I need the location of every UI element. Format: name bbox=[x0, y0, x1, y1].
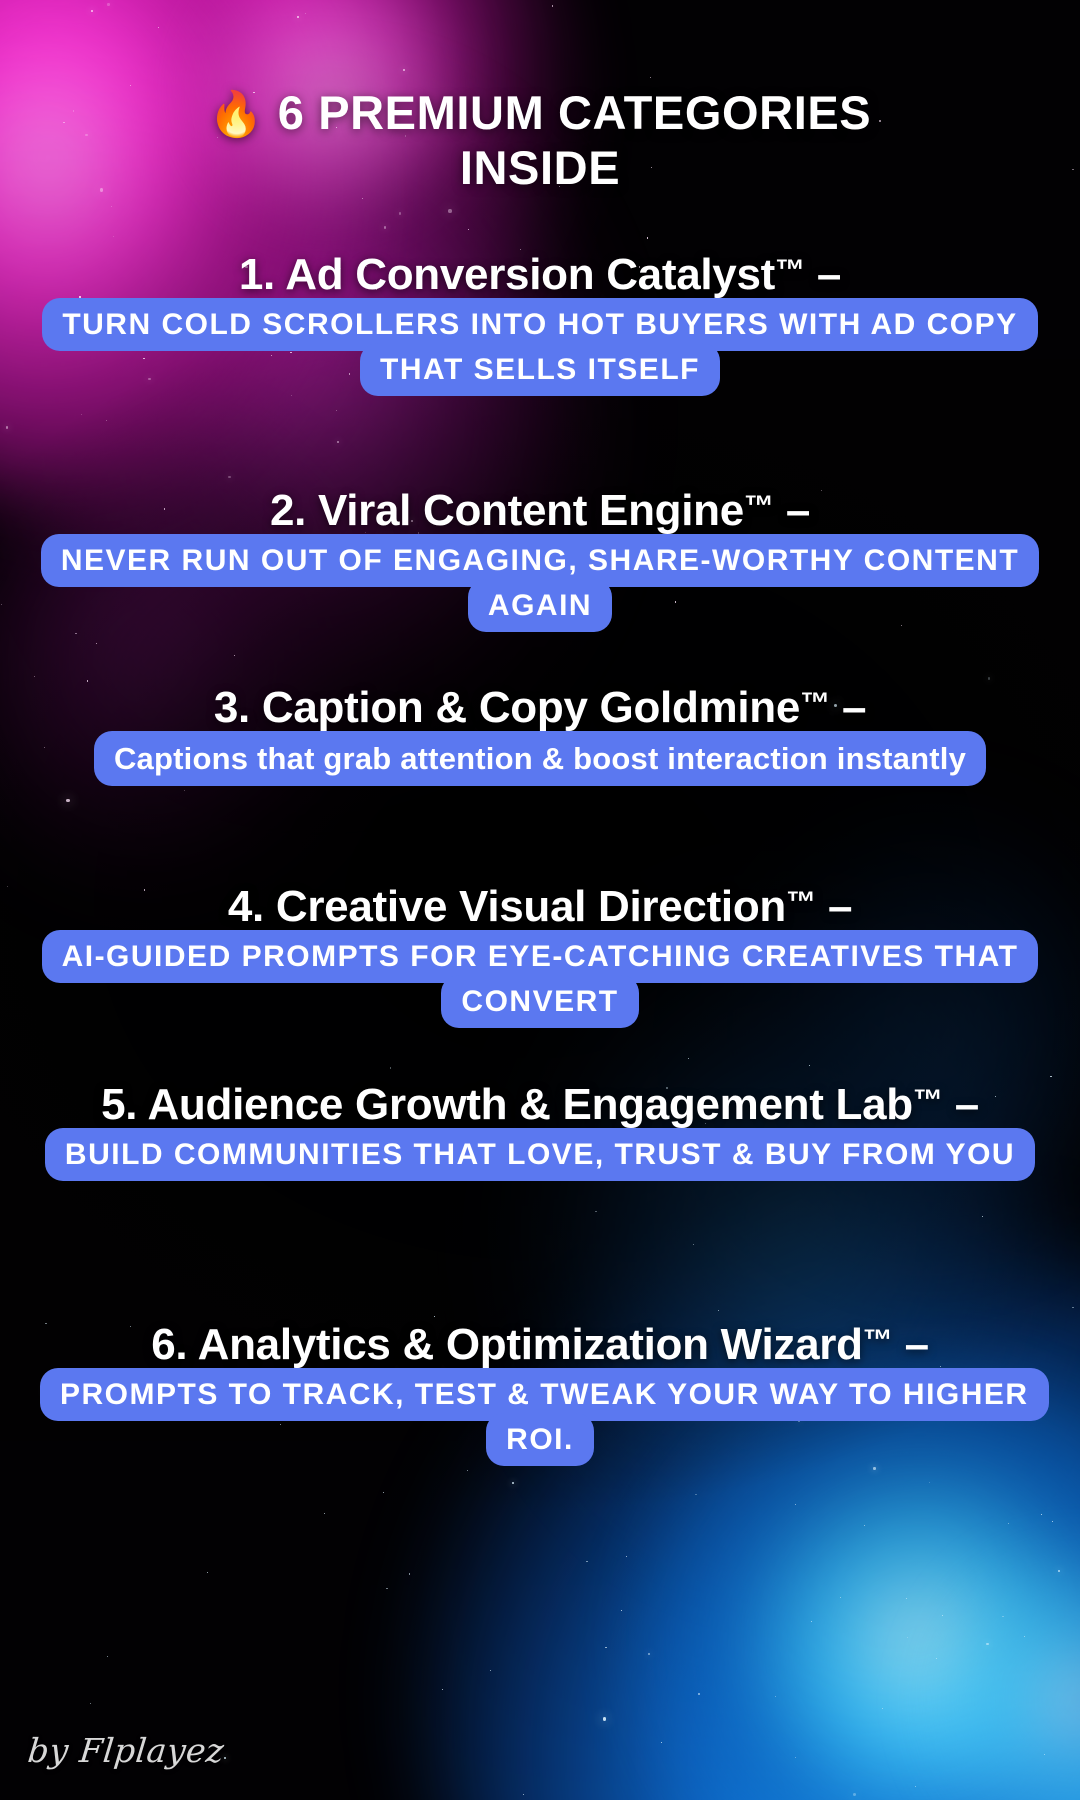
category-description: BUILD COMMUNITIES THAT LOVE, TRUST & BUY… bbox=[40, 1132, 1040, 1178]
category-description: PROMPTS TO TRACK, TEST & TWEAK YOUR WAY … bbox=[40, 1372, 1040, 1463]
author-signature: by Flplayez bbox=[26, 1731, 226, 1770]
category-title: 6. Analytics & Optimization Wizard™ – bbox=[40, 1322, 1040, 1368]
category-item: 3. Caption & Copy Goldmine™ – Captions t… bbox=[0, 685, 1080, 782]
category-title: 1. Ad Conversion Catalyst™ – bbox=[40, 252, 1040, 298]
category-description-highlight: TURN COLD SCROLLERS INTO HOT BUYERS WITH… bbox=[42, 298, 1037, 397]
category-title: 4. Creative Visual Direction™ – bbox=[40, 884, 1040, 930]
category-description-highlight: Captions that grab attention & boost int… bbox=[94, 731, 986, 786]
category-description: NEVER RUN OUT OF ENGAGING, SHARE-WORTHY … bbox=[40, 538, 1040, 629]
category-title: 2. Viral Content Engine™ – bbox=[40, 488, 1040, 534]
category-item: 2. Viral Content Engine™ – NEVER RUN OUT… bbox=[0, 488, 1080, 629]
category-description: TURN COLD SCROLLERS INTO HOT BUYERS WITH… bbox=[40, 302, 1040, 393]
category-title: 3. Caption & Copy Goldmine™ – bbox=[40, 685, 1040, 731]
fire-icon: 🔥 bbox=[209, 90, 264, 139]
page-title: 🔥 6 PREMIUM CATEGORIES INSIDE bbox=[0, 86, 1080, 195]
category-description-highlight: NEVER RUN OUT OF ENGAGING, SHARE-WORTHY … bbox=[41, 534, 1039, 633]
category-description-highlight: BUILD COMMUNITIES THAT LOVE, TRUST & BUY… bbox=[45, 1128, 1035, 1181]
page-title-line1: 6 PREMIUM CATEGORIES bbox=[278, 86, 871, 139]
category-item: 5. Audience Growth & Engagement Lab™ – B… bbox=[0, 1082, 1080, 1177]
category-item: 4. Creative Visual Direction™ – AI-GUIDE… bbox=[0, 884, 1080, 1025]
category-description-highlight: AI-GUIDED PROMPTS FOR EYE-CATCHING CREAT… bbox=[42, 930, 1039, 1029]
category-title: 5. Audience Growth & Engagement Lab™ – bbox=[40, 1082, 1040, 1128]
category-description: Captions that grab attention & boost int… bbox=[40, 735, 1040, 782]
category-description: AI-GUIDED PROMPTS FOR EYE-CATCHING CREAT… bbox=[40, 934, 1040, 1025]
category-description-highlight: PROMPTS TO TRACK, TEST & TWEAK YOUR WAY … bbox=[40, 1368, 1049, 1467]
page-title-line2: INSIDE bbox=[460, 141, 620, 194]
category-item: 1. Ad Conversion Catalyst™ – TURN COLD S… bbox=[0, 252, 1080, 393]
category-item: 6. Analytics & Optimization Wizard™ – PR… bbox=[0, 1322, 1080, 1463]
